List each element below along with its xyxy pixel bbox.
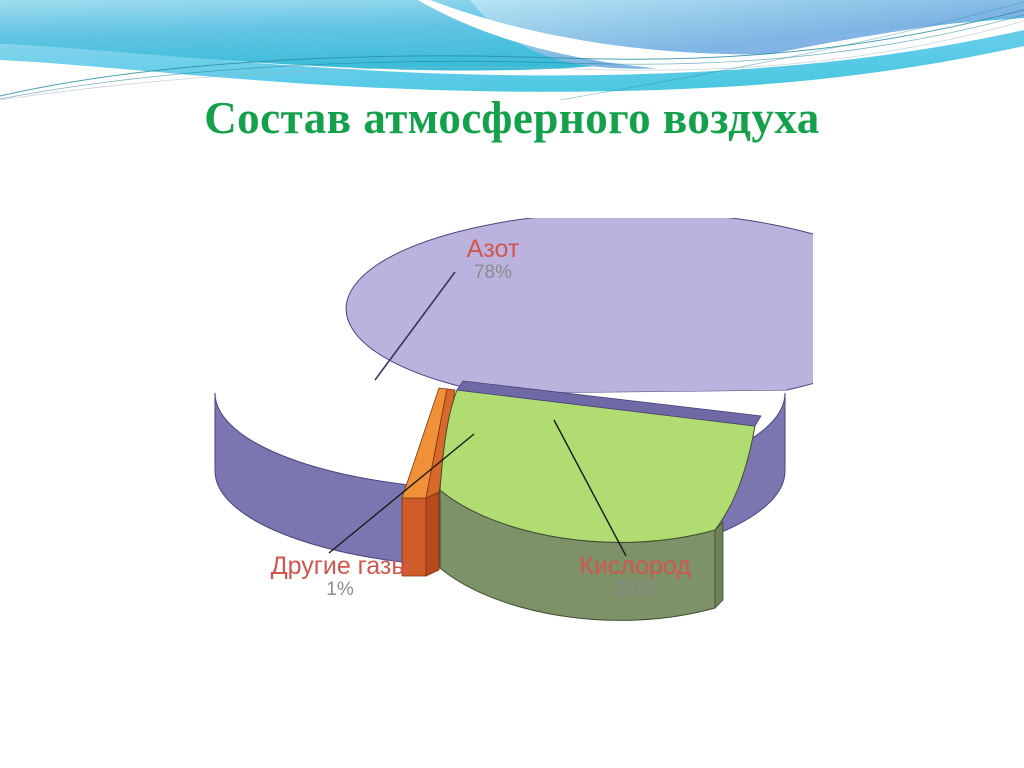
label-other-gases: Другие газы 1%: [220, 553, 460, 600]
label-other-gases-percent: 1%: [220, 580, 460, 600]
banner-wave-graphic: [0, 0, 1024, 100]
slide-title: Состав атмосферного воздуха: [0, 92, 1024, 144]
label-oxygen: Кислород 21%: [520, 553, 750, 600]
label-nitrogen-percent: 78%: [403, 263, 583, 283]
label-other-gases-name: Другие газы: [220, 553, 460, 579]
label-nitrogen-name: Азот: [403, 236, 583, 262]
label-nitrogen: Азот 78%: [403, 236, 583, 283]
label-oxygen-name: Кислород: [520, 553, 750, 579]
presentation-slide: Состав атмосферного воздуха: [0, 0, 1024, 768]
label-oxygen-percent: 21%: [520, 580, 750, 600]
decorative-wave-banner: [0, 0, 1024, 100]
